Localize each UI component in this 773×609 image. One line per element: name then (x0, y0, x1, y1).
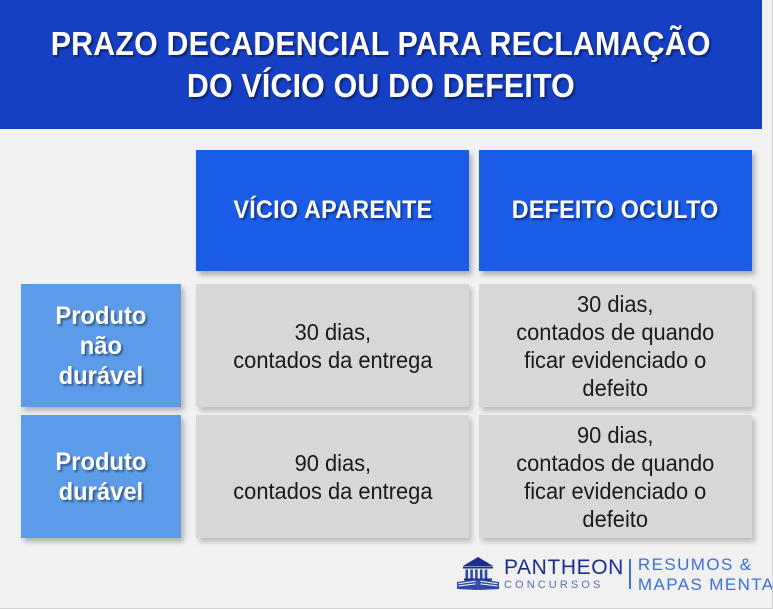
row-header-produto-duravel: Produto durável (21, 415, 181, 538)
logo-tagline-stack: RESUMOS & MAPAS MENTAIS (638, 556, 773, 593)
row-header-label: Produto não durável (55, 301, 146, 391)
cell-line: contados da entrega (233, 347, 432, 373)
row-header-line: Produto (55, 448, 146, 476)
comparison-matrix: VÍCIO APARENTE DEFEITO OCULTO Produto nã… (0, 129, 773, 609)
row-header-line: Produto (55, 302, 146, 330)
logo-brand-secondary: CONCURSOS (504, 580, 624, 591)
column-header-defeito-oculto: DEFEITO OCULTO (479, 150, 752, 271)
cell-line: 90 dias, (294, 450, 371, 476)
column-header-label: DEFEITO OCULTO (512, 196, 719, 225)
brand-logo: PANTHEON CONCURSOS RESUMOS & MAPAS MENTA… (455, 553, 753, 595)
column-header-vicio-aparente: VÍCIO APARENTE (196, 150, 469, 271)
cell-line: contados de quando (516, 319, 714, 345)
cell-line: 30 dias, (577, 291, 654, 317)
page-title-line-2: DO VÍCIO OU DO DEFEITO (187, 65, 575, 107)
cell-text: 30 dias, contados de quando ficar eviden… (516, 290, 714, 402)
cell-duravel-vicio-aparente: 90 dias, contados da entrega (196, 415, 469, 538)
cell-line: 30 dias, (294, 319, 371, 345)
cell-duravel-defeito-oculto: 90 dias, contados de quando ficar eviden… (479, 415, 752, 538)
row-header-produto-nao-duravel: Produto não durável (21, 284, 181, 407)
pantheon-book-icon (455, 555, 501, 593)
cell-line: contados de quando (516, 450, 714, 476)
column-header-label: VÍCIO APARENTE (233, 196, 432, 225)
page-title-line-1: PRAZO DECADENCIAL PARA RECLAMAÇÃO (51, 23, 711, 65)
logo-brand-stack: PANTHEON CONCURSOS (504, 557, 624, 591)
row-header-label: Produto durável (55, 447, 146, 507)
logo-divider (629, 559, 631, 589)
cell-nao-duravel-vicio-aparente: 30 dias, contados da entrega (196, 284, 469, 407)
cell-text: 30 dias, contados da entrega (233, 318, 432, 374)
cell-line: ficar evidenciado o (524, 478, 706, 504)
row-header-line: durável (59, 362, 143, 390)
cell-line: ficar evidenciado o (524, 347, 706, 373)
logo-wordmark: PANTHEON CONCURSOS RESUMOS & MAPAS MENTA… (504, 556, 773, 593)
row-header-line: não (80, 332, 122, 360)
cell-line: 90 dias, (577, 422, 654, 448)
cell-line: defeito (583, 375, 649, 401)
logo-tagline-line-1: RESUMOS & (638, 556, 773, 573)
cell-text: 90 dias, contados de quando ficar eviden… (516, 421, 714, 533)
cell-nao-duravel-defeito-oculto: 30 dias, contados de quando ficar eviden… (479, 284, 752, 407)
logo-tagline-line-2: MAPAS MENTAIS (638, 576, 773, 593)
cell-text: 90 dias, contados da entrega (233, 449, 432, 505)
logo-brand-primary: PANTHEON (504, 557, 624, 578)
cell-line: defeito (583, 506, 649, 532)
row-header-line: durável (59, 478, 143, 506)
cell-line: contados da entrega (233, 478, 432, 504)
title-banner: PRAZO DECADENCIAL PARA RECLAMAÇÃO DO VÍC… (0, 0, 762, 129)
infographic-slide: PRAZO DECADENCIAL PARA RECLAMAÇÃO DO VÍC… (0, 0, 773, 609)
